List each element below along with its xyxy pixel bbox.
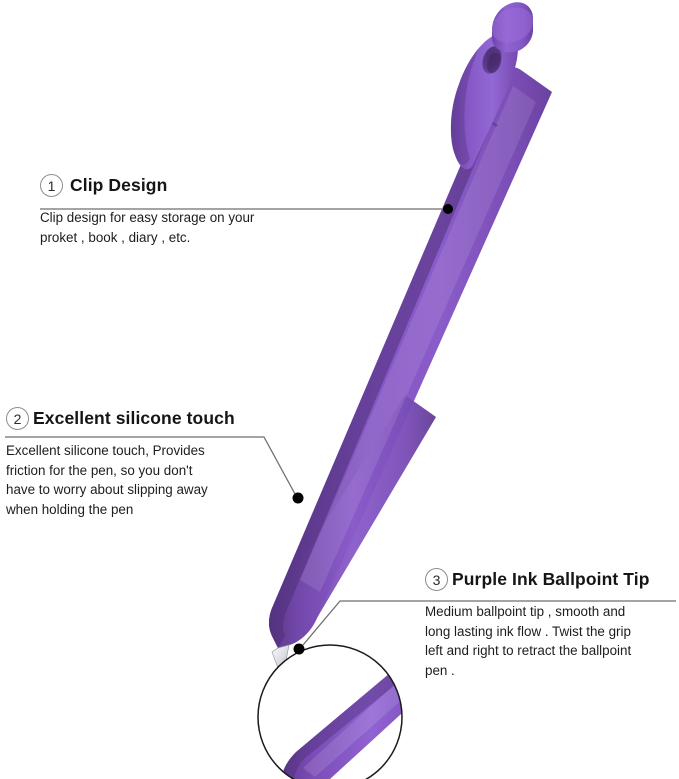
- callout-3-number: 3: [425, 568, 448, 591]
- magnifier-inset: [258, 645, 447, 779]
- product-infographic: 1 Clip Design Clip design for easy stora…: [0, 0, 679, 779]
- callout-3-body: Medium ballpoint tip , smooth and long l…: [425, 602, 673, 680]
- callout-ballpoint-tip: 3 Purple Ink Ballpoint Tip Medium ballpo…: [425, 568, 673, 680]
- callout-2-body: Excellent silicone touch, Provides frict…: [6, 441, 256, 519]
- pen-highlight: [300, 86, 536, 592]
- callout-2-number: 2: [6, 407, 29, 430]
- callout-1-body: Clip design for easy storage on your pro…: [40, 208, 340, 247]
- leader-dot-1: [443, 204, 453, 214]
- leader-dot-2: [293, 493, 304, 504]
- callout-silicone-touch: 2 Excellent silicone touch Excellent sil…: [6, 407, 256, 519]
- callout-1-title: Clip Design: [70, 175, 167, 196]
- leader-dot-3: [294, 644, 305, 655]
- callout-3-heading: 3 Purple Ink Ballpoint Tip: [425, 568, 673, 591]
- callout-3-title: Purple Ink Ballpoint Tip: [452, 569, 650, 590]
- callout-1-heading: 1 Clip Design: [40, 174, 340, 197]
- callout-1-number: 1: [40, 174, 63, 197]
- callout-2-title: Excellent silicone touch: [33, 408, 235, 429]
- callout-2-heading: 2 Excellent silicone touch: [6, 407, 256, 430]
- callout-clip-design: 1 Clip Design Clip design for easy stora…: [40, 174, 340, 247]
